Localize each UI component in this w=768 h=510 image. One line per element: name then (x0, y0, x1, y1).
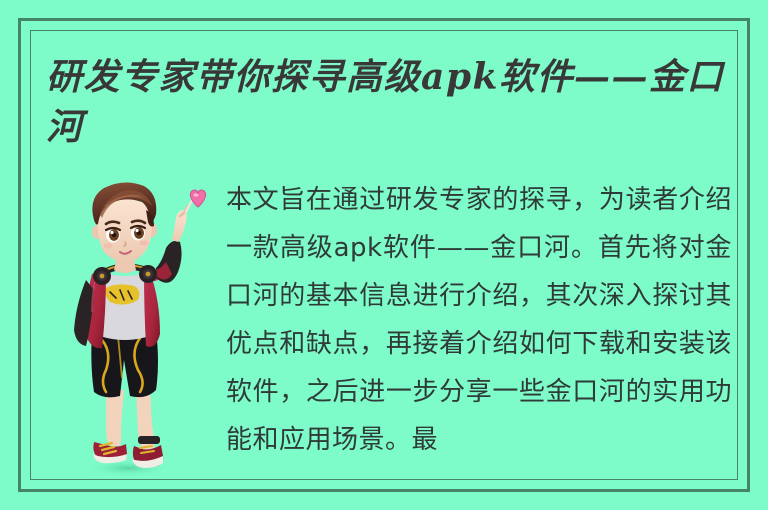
right-sneaker (132, 436, 163, 468)
chibi-boy-character-illustration (62, 180, 212, 480)
heart-lollipop (190, 190, 205, 207)
page-title: 研发专家带你探寻高级apk软件——金口河 (46, 52, 736, 152)
character-head (92, 182, 157, 262)
lollipop-hand (172, 190, 206, 242)
poster-canvas: 研发专家带你探寻高级apk软件——金口河 (0, 0, 768, 510)
article-summary-text: 本文旨在通过研发专家的探寻，为读者介绍一款高级apk软件——金口河。首先将对金口… (226, 176, 732, 464)
